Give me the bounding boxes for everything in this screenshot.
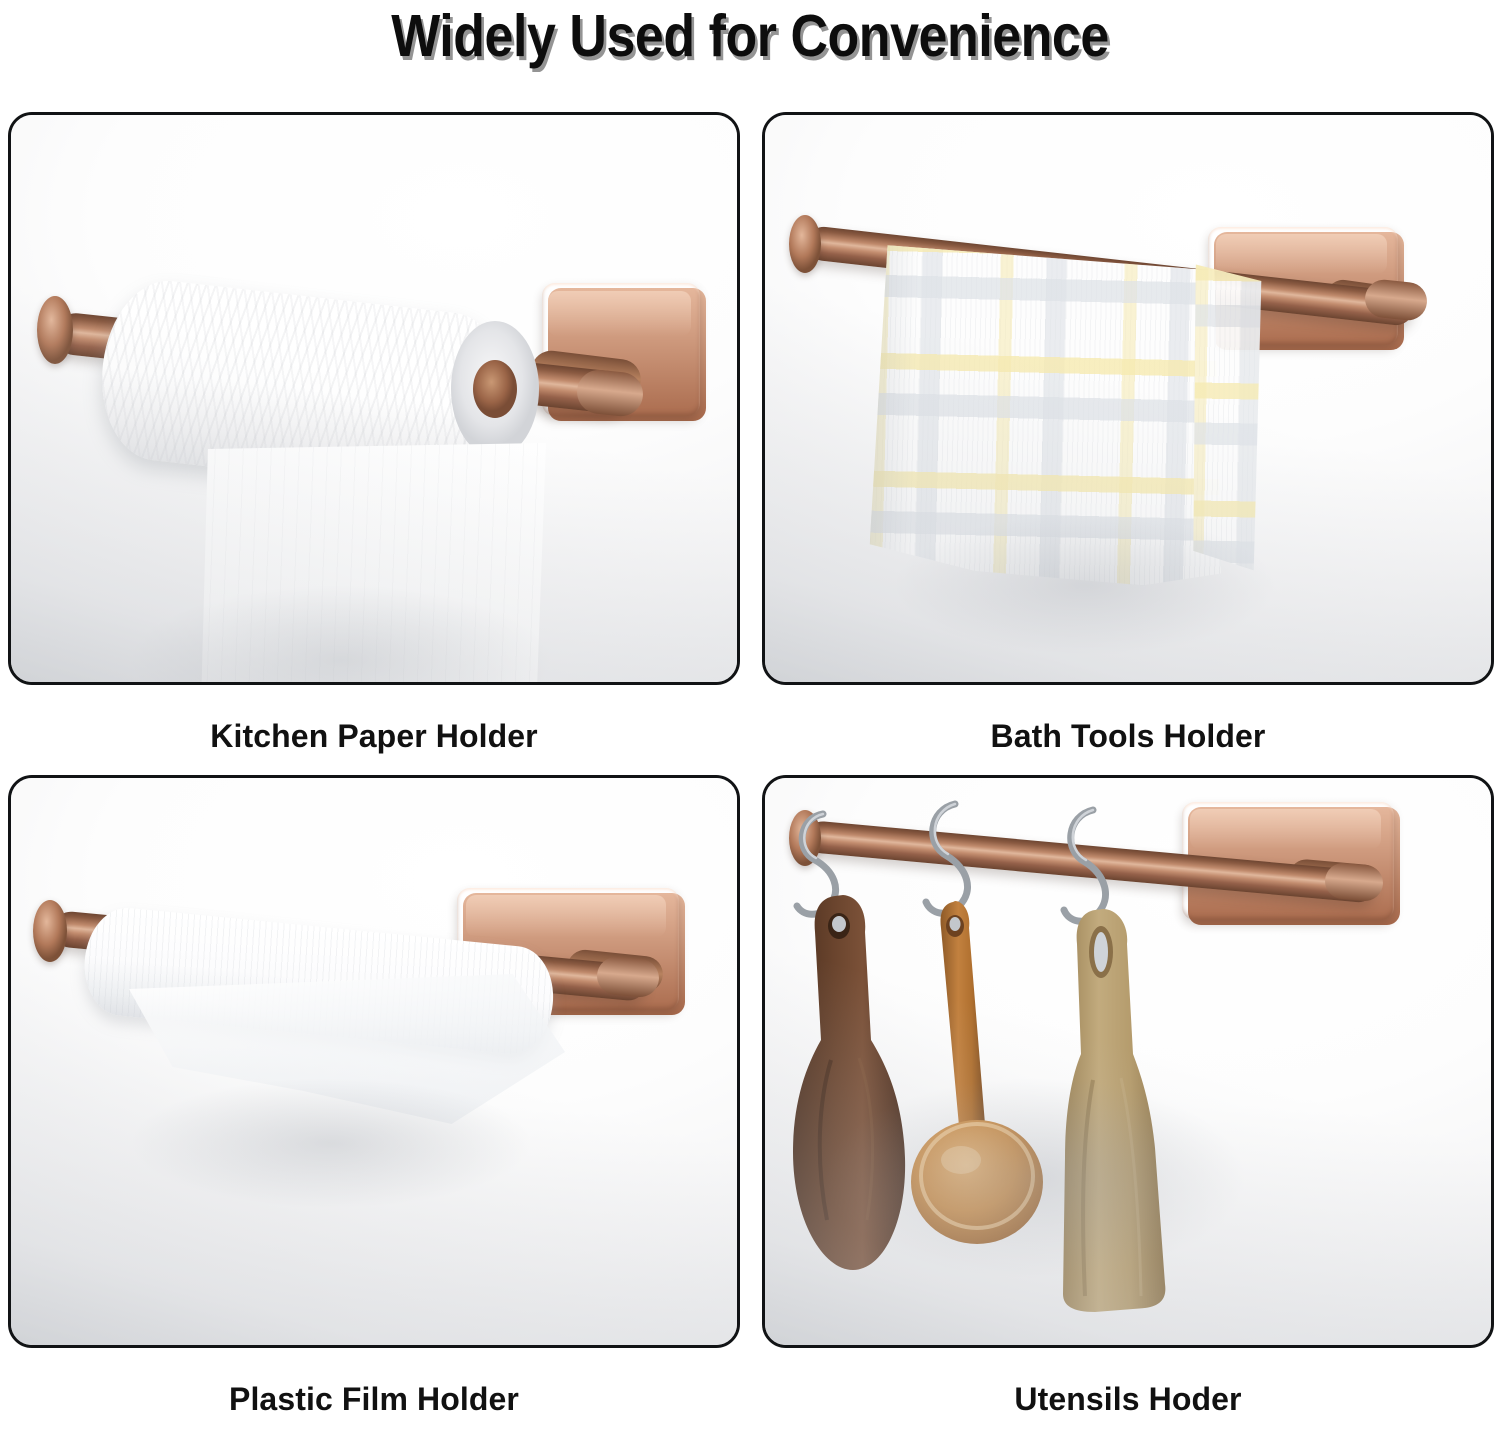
wall-flange xyxy=(789,215,821,273)
wall-flange xyxy=(37,296,73,364)
towel-fold-shadow xyxy=(869,235,947,581)
paper-towel-roll-core xyxy=(473,360,517,418)
product-scene-plastic-film xyxy=(11,778,737,1345)
copper-bar-end-cap xyxy=(1324,862,1385,903)
panel-kitchen-paper-holder: Kitchen Paper Holder xyxy=(8,112,740,755)
product-scene-bath-tools xyxy=(765,115,1491,682)
panel-caption: Utensils Hoder xyxy=(762,1381,1494,1418)
wall-flange xyxy=(33,900,67,962)
panel-caption: Kitchen Paper Holder xyxy=(8,718,740,755)
towel-plaid-pattern xyxy=(1190,264,1261,573)
panel-bath-tools-holder: Bath Tools Holder xyxy=(762,112,1494,755)
infographic-page: Widely Used for Convenience xyxy=(0,0,1500,1429)
panel-frame xyxy=(8,775,740,1348)
product-scene-utensils xyxy=(765,778,1491,1345)
panel-frame xyxy=(8,112,740,685)
copper-bar-end-cap xyxy=(595,955,660,998)
product-scene-kitchen-paper xyxy=(11,115,737,682)
panel-plastic-film-holder: Plastic Film Holder xyxy=(8,775,740,1418)
scene-shadow xyxy=(131,1078,531,1208)
panel-frame xyxy=(762,112,1494,685)
panel-utensils-holder: Utensils Hoder xyxy=(762,775,1494,1418)
panel-caption: Bath Tools Holder xyxy=(762,718,1494,755)
scene-shadow xyxy=(825,1078,1245,1278)
panel-caption: Plastic Film Holder xyxy=(8,1381,740,1418)
panel-frame xyxy=(762,775,1494,1348)
scene-shadow xyxy=(895,515,1275,655)
plaid-hand-towel-back-panel xyxy=(1190,264,1261,573)
page-title: Widely Used for Convenience xyxy=(90,2,1410,70)
panel-grid: Kitchen Paper Holder xyxy=(8,112,1492,1422)
